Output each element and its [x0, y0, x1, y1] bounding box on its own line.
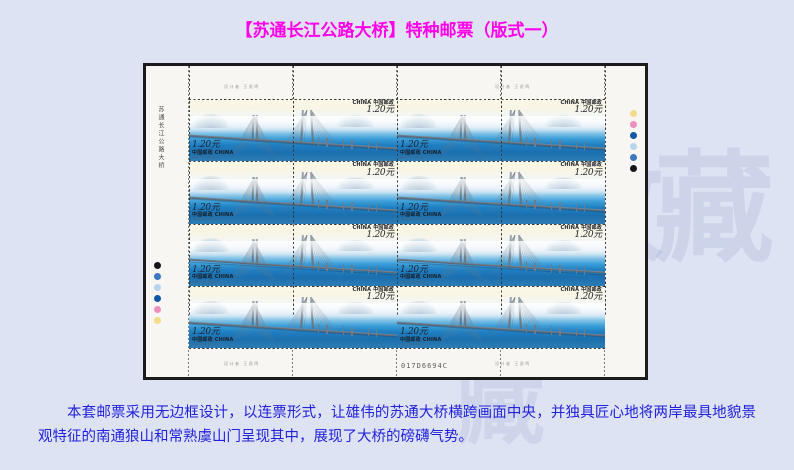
hill-yushan	[337, 240, 374, 252]
bridge-pier	[534, 263, 535, 272]
hill-yushan	[545, 240, 582, 252]
stamp-perforation-vertical	[293, 66, 294, 315]
stamp-perforation-horizontal	[189, 161, 605, 162]
bridge-pylon-right	[300, 110, 303, 144]
bridge-pier	[576, 204, 577, 212]
bridge-pier	[343, 326, 344, 335]
hill-yushan	[545, 115, 582, 127]
bridge-pier	[584, 204, 585, 212]
bridge-pier	[551, 139, 552, 148]
bridge-pier	[559, 327, 560, 336]
bridge-pier	[343, 264, 344, 273]
stamp-meta-top-right: CHINA 中国邮政 1.20元	[560, 163, 602, 178]
stamp-country-label: 中国邮政 CHINA	[400, 151, 442, 156]
bridge-pier	[376, 266, 377, 274]
bridge-pylon-right	[310, 110, 313, 145]
bridge-pylon-right	[518, 235, 521, 270]
stamp-micro-text: 2017-26 (2-1)T	[400, 156, 442, 159]
registration-dot-black	[154, 262, 161, 269]
registration-dot-dark-blue	[154, 295, 161, 302]
bridge-pylon-right	[310, 172, 313, 207]
bridge-pier	[351, 327, 352, 336]
bridge-pylon-left	[460, 239, 462, 264]
sheet-side-caption: 苏通长江公路大桥	[157, 106, 163, 170]
bridge-pier	[343, 139, 344, 148]
stamp-country-label: 中国邮政 CHINA	[192, 151, 234, 156]
stamp-meta-bottom-left: 1.20元 中国邮政 CHINA 2017-26 (2-1)T	[192, 141, 234, 159]
stamp-micro-text: 2017-26 (2-1)T	[192, 156, 234, 159]
stamp-grid: CHINA 中国邮政 1.20元 1.20元 中国邮政 CHINA 2017-2…	[189, 99, 605, 348]
stamp-perforation-horizontal	[189, 224, 605, 225]
bridge-pylon-right	[508, 110, 511, 144]
description-paragraph: 本套邮票采用无边框设计，以连票形式，让雄伟的苏通大桥横跨画面中央，并独具匠心地将…	[38, 402, 756, 450]
bridge-pylon-left	[464, 115, 466, 141]
stamp-sheet: 苏通长江公路大桥 设计者 王虎鸣 设计者 王虎鸣 设计者 王虎鸣 设计者 王虎鸣…	[146, 66, 645, 377]
stamp-denomination: 1.20元	[352, 293, 394, 302]
bridge-pier	[551, 326, 552, 335]
bridge-pier	[526, 200, 527, 209]
bridge-pier	[351, 265, 352, 274]
stamp-meta-top-right: CHINA 中国邮政 1.20元	[352, 288, 394, 303]
stamp-country-label: CHINA 中国邮政	[560, 288, 602, 293]
stamp-country-label: 中国邮政 CHINA	[192, 275, 234, 280]
stamp-micro-text: 2017-26 (2-1)T	[192, 343, 234, 346]
stamp-perforation-horizontal	[189, 286, 605, 287]
bridge-pylon-left	[252, 301, 254, 326]
bridge-pylon-right	[300, 235, 303, 269]
bridge-pier	[318, 200, 319, 209]
stamp-denomination: 1.20元	[400, 204, 442, 213]
hill-yushan	[337, 302, 374, 314]
bridge-pier	[584, 266, 585, 274]
bridge-pylon-right	[310, 297, 313, 332]
stamp-denomination: 1.20元	[192, 141, 234, 150]
stamp-country-label: 中国邮政 CHINA	[192, 338, 234, 343]
bridge-pier	[576, 266, 577, 274]
bridge-pylon-right	[508, 297, 511, 331]
bridge-pier	[376, 142, 377, 150]
registration-dots-right	[630, 110, 637, 172]
bridge-pylon-right	[508, 172, 511, 206]
bridge-pier	[351, 140, 352, 149]
hill-yushan	[337, 115, 374, 127]
stamp-meta-top-right: CHINA 中国邮政 1.20元	[560, 226, 602, 241]
hill-langshan	[193, 114, 228, 128]
stamp-country-label: 中国邮政 CHINA	[400, 338, 442, 343]
bridge-pier	[559, 140, 560, 149]
bridge-pylon-right	[300, 172, 303, 206]
bridge-pylon-left	[256, 301, 258, 327]
stamp-denomination: 1.20元	[192, 328, 234, 337]
bridge-pylon-left	[460, 115, 462, 140]
stamp-country-label: CHINA 中国邮政	[560, 101, 602, 106]
stamp-denomination: 1.20元	[192, 204, 234, 213]
hill-langshan	[401, 176, 436, 190]
bridge-pier	[559, 265, 560, 274]
stamp-perforation-vertical	[189, 66, 190, 315]
stamp-country-label: CHINA 中国邮政	[560, 163, 602, 168]
stamp-meta-top-right: CHINA 中国邮政 1.20元	[352, 226, 394, 241]
bridge-pier	[318, 324, 319, 333]
bridge-pylon-left	[256, 115, 258, 141]
registration-dot-yellow	[154, 317, 161, 324]
hill-langshan	[401, 301, 436, 315]
stamp-denomination: 1.20元	[400, 266, 442, 275]
stamp-meta-top-right: CHINA 中国邮政 1.20元	[352, 163, 394, 178]
sheet-serial-number: 017D6694C	[401, 362, 448, 370]
bridge-pier	[376, 204, 377, 212]
bridge-pier	[343, 202, 344, 211]
stamp-perforation-vertical	[397, 66, 398, 315]
stamp-meta-top-right: CHINA 中国邮政 1.20元	[560, 288, 602, 303]
bridge-deck-shadow	[397, 323, 605, 339]
bridge-pier	[526, 262, 527, 271]
bridge-pier	[551, 264, 552, 273]
bridge-pylon-left	[252, 239, 254, 264]
stamp-denomination: 1.20元	[400, 328, 442, 337]
registration-dot-yellow	[630, 110, 637, 117]
bridge-pier	[376, 329, 377, 337]
hill-langshan	[193, 176, 228, 190]
sheet-top-credit-left: 设计者 王虎鸣	[224, 84, 260, 90]
stamp-country-label: 中国邮政 CHINA	[192, 213, 234, 218]
registration-dot-light-blue	[630, 143, 637, 150]
bridge-pylon-right	[518, 172, 521, 207]
bridge-pier	[534, 200, 535, 209]
hill-yushan	[545, 177, 582, 189]
bridge-pier	[326, 325, 327, 334]
stamp-country-label: 中国邮政 CHINA	[400, 275, 442, 280]
bridge-pier	[326, 200, 327, 209]
registration-dots-left	[154, 262, 161, 324]
hill-langshan	[401, 238, 436, 252]
registration-dot-dark-blue	[630, 132, 637, 139]
stamp-denomination: 1.20元	[192, 266, 234, 275]
stamp-country-label: CHINA 中国邮政	[352, 163, 394, 168]
stamp-perforation-horizontal	[189, 99, 605, 100]
registration-dot-light-blue	[154, 284, 161, 291]
stamp-denomination: 1.20元	[560, 293, 602, 302]
stamp-country-label: CHINA 中国邮政	[352, 101, 394, 106]
hill-langshan	[401, 114, 436, 128]
bridge-pier	[326, 263, 327, 272]
hill-yushan	[545, 302, 582, 314]
bridge-pier	[576, 141, 577, 149]
bridge-pier	[526, 138, 527, 147]
stamp-micro-text: 2017-26 (2-1)T	[400, 281, 442, 284]
stamp-country-label: CHINA 中国邮政	[352, 288, 394, 293]
stamp-denomination: 1.20元	[560, 231, 602, 240]
stamp-sheet-frame: 苏通长江公路大桥 设计者 王虎鸣 设计者 王虎鸣 设计者 王虎鸣 设计者 王虎鸣…	[143, 63, 648, 380]
bridge-pylon-left	[460, 301, 462, 326]
bridge-pier	[368, 266, 369, 274]
sheet-bottom-credit-right: 设计者 王虎鸣	[495, 361, 531, 367]
bridge-pylon-left	[252, 115, 254, 140]
bridge-pylon-right	[518, 110, 521, 145]
hill-langshan	[193, 301, 228, 315]
stamp-meta-bottom-left: 1.20元 中国邮政 CHINA 2017-26 (2-1)T	[400, 204, 442, 222]
bridge-deck-shadow	[189, 323, 397, 339]
bridge-pier	[559, 202, 560, 211]
sheet-bottom-credit-left: 设计者 王虎鸣	[224, 361, 260, 367]
stamp-country-label: CHINA 中国邮政	[560, 226, 602, 231]
stamp-meta-bottom-left: 1.20元 中国邮政 CHINA 2017-26 (2-1)T	[192, 266, 234, 284]
bridge-pier	[326, 138, 327, 147]
bridge-pier	[318, 138, 319, 147]
bridge-pier	[534, 325, 535, 334]
stamp-meta-bottom-left: 1.20元 中国邮政 CHINA 2017-26 (2-1)T	[400, 141, 442, 159]
bridge-pier	[351, 202, 352, 211]
stamp-perforation-horizontal	[189, 348, 605, 349]
registration-dot-magenta	[154, 306, 161, 313]
stamp-perforation-vertical	[605, 66, 606, 315]
bridge-pylon-left	[464, 177, 466, 203]
bridge-pylon-left	[256, 177, 258, 203]
registration-dot-medium-blue	[154, 273, 161, 280]
bridge-pier	[576, 328, 577, 336]
stamp-denomination: 1.20元	[400, 141, 442, 150]
stamp-micro-text: 2017-26 (2-1)T	[192, 281, 234, 284]
bridge-pylon-right	[300, 297, 303, 331]
bridge-pylon-left	[252, 177, 254, 202]
bridge-pier	[318, 262, 319, 271]
stamp-micro-text: 2017-26 (2-1)T	[400, 218, 442, 221]
hill-langshan	[193, 238, 228, 252]
bridge-pier	[551, 202, 552, 211]
registration-dot-black	[630, 165, 637, 172]
bridge-pylon-right	[508, 235, 511, 269]
stamp-meta-top-right: CHINA 中国邮政 1.20元	[560, 101, 602, 116]
bridge-pier	[368, 328, 369, 336]
registration-dot-medium-blue	[630, 154, 637, 161]
stamp-perforation-vertical	[501, 66, 502, 315]
bridge-pier	[584, 142, 585, 150]
stamp-meta-bottom-left: 1.20元 中国邮政 CHINA 2017-26 (2-1)T	[192, 328, 234, 346]
bridge-pier	[534, 138, 535, 147]
bridge-pier	[368, 141, 369, 149]
bridge-pylon-left	[464, 301, 466, 327]
stamp-micro-text: 2017-26 (2-1)T	[192, 218, 234, 221]
stamp-meta-bottom-left: 1.20元 中国邮政 CHINA 2017-26 (2-1)T	[192, 204, 234, 222]
bridge-pylon-right	[518, 297, 521, 332]
hill-yushan	[337, 177, 374, 189]
bridge-pier	[584, 329, 585, 337]
stamp-meta-bottom-left: 1.20元 中国邮政 CHINA 2017-26 (2-1)T	[400, 266, 442, 284]
bridge-pier	[526, 324, 527, 333]
stamp-denomination: 1.20元	[352, 231, 394, 240]
bridge-pylon-left	[460, 177, 462, 202]
page-title: 【苏通长江公路大桥】特种邮票（版式一）	[0, 16, 794, 41]
bridge-pier	[368, 204, 369, 212]
stamp-micro-text: 2017-26 (2-1)T	[400, 343, 442, 346]
stamp-meta-top-right: CHINA 中国邮政 1.20元	[352, 101, 394, 116]
bridge-pylon-left	[464, 239, 466, 265]
bridge-pylon-right	[310, 235, 313, 270]
registration-dot-magenta	[630, 121, 637, 128]
bridge-pylon-left	[256, 239, 258, 265]
stamp-meta-bottom-left: 1.20元 中国邮政 CHINA 2017-26 (2-1)T	[400, 328, 442, 346]
stamp-country-label: 中国邮政 CHINA	[400, 213, 442, 218]
stamp-country-label: CHINA 中国邮政	[352, 226, 394, 231]
